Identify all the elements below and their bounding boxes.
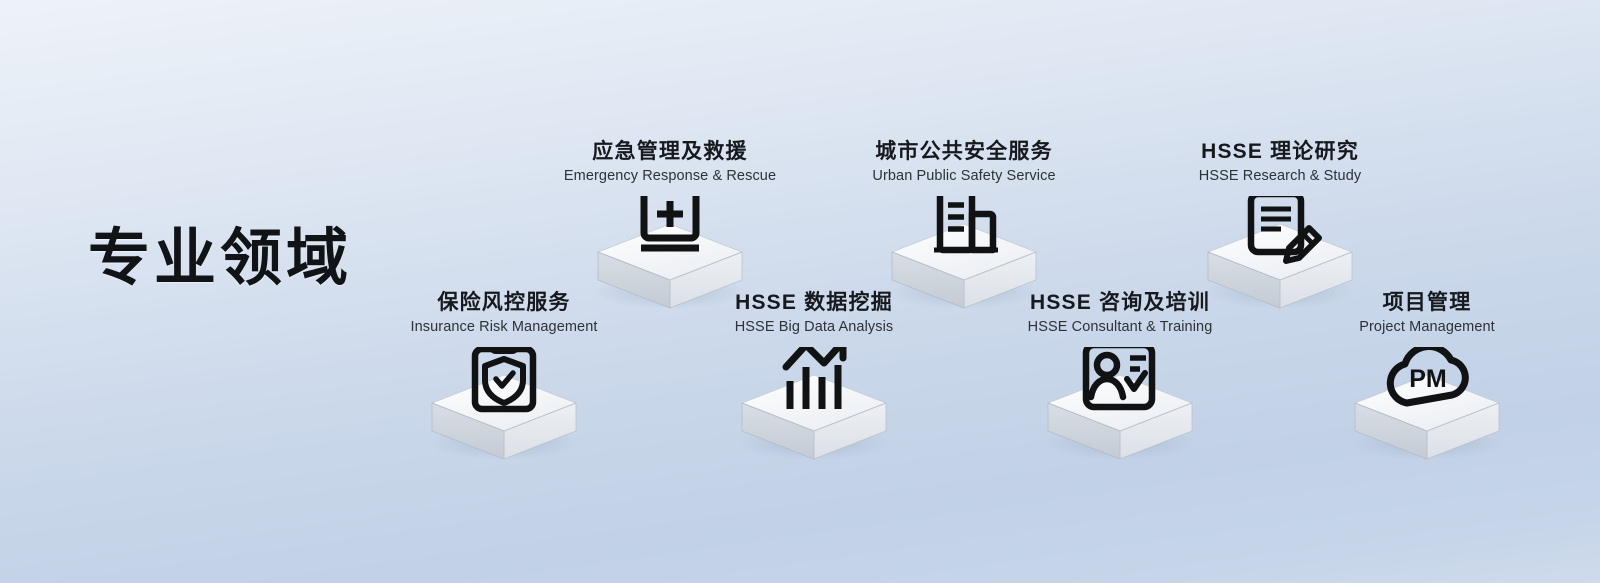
domain-item-hsse-big-data-analysis[interactable]: HSSE 数据挖掘HSSE Big Data Analysis <box>684 291 944 467</box>
pedestal-3d <box>1150 196 1410 316</box>
domain-item-emergency-response-rescue[interactable]: 应急管理及救援Emergency Response & Rescue <box>540 140 800 316</box>
domain-item-label: HSSE 理论研究HSSE Research & Study <box>1150 140 1410 186</box>
domain-item-urban-public-safety-service[interactable]: 城市公共安全服务Urban Public Safety Service <box>834 140 1094 316</box>
domain-title-cn: 应急管理及救援 <box>540 140 800 164</box>
domain-item-hsse-consultant-training[interactable]: HSSE 咨询及培训HSSE Consultant & Training <box>990 291 1250 467</box>
domain-item-insurance-risk-management[interactable]: 保险风控服务Insurance Risk Management <box>374 291 634 467</box>
domain-item-label: 应急管理及救援Emergency Response & Rescue <box>540 140 800 186</box>
domain-title-en: HSSE Consultant & Training <box>990 318 1250 338</box>
page-title: 专业领域 <box>88 228 352 290</box>
pedestal-3d <box>990 347 1250 467</box>
pedestal-3d <box>684 347 944 467</box>
domain-title-en: Insurance Risk Management <box>374 318 634 338</box>
domain-item-art <box>834 196 1094 316</box>
domain-item-art <box>990 347 1250 467</box>
pedestal-3d <box>834 196 1094 316</box>
domain-title-en: HSSE Big Data Analysis <box>684 318 944 338</box>
pedestal-3d <box>374 347 634 467</box>
domain-title-en: HSSE Research & Study <box>1150 167 1410 187</box>
pedestal-3d <box>1297 347 1557 467</box>
domain-item-hsse-research-study[interactable]: HSSE 理论研究HSSE Research & Study <box>1150 140 1410 316</box>
domain-item-art <box>1150 196 1410 316</box>
professional-domains-banner: 专业领域 应急管理及救援Emergency Response & Rescue <box>0 0 1600 583</box>
domain-item-art: PM <box>1297 347 1557 467</box>
domain-item-art <box>374 347 634 467</box>
domain-item-art <box>540 196 800 316</box>
domain-title-en: Emergency Response & Rescue <box>540 167 800 187</box>
domain-item-project-management[interactable]: 项目管理Project Management <box>1297 291 1557 467</box>
pedestal-3d <box>540 196 800 316</box>
domain-title-cn: 城市公共安全服务 <box>834 140 1094 164</box>
domain-item-label: 城市公共安全服务Urban Public Safety Service <box>834 140 1094 186</box>
domain-title-cn: HSSE 理论研究 <box>1150 140 1410 164</box>
domain-title-en: Urban Public Safety Service <box>834 167 1094 187</box>
domain-title-en: Project Management <box>1297 318 1557 338</box>
domain-item-art <box>684 347 944 467</box>
